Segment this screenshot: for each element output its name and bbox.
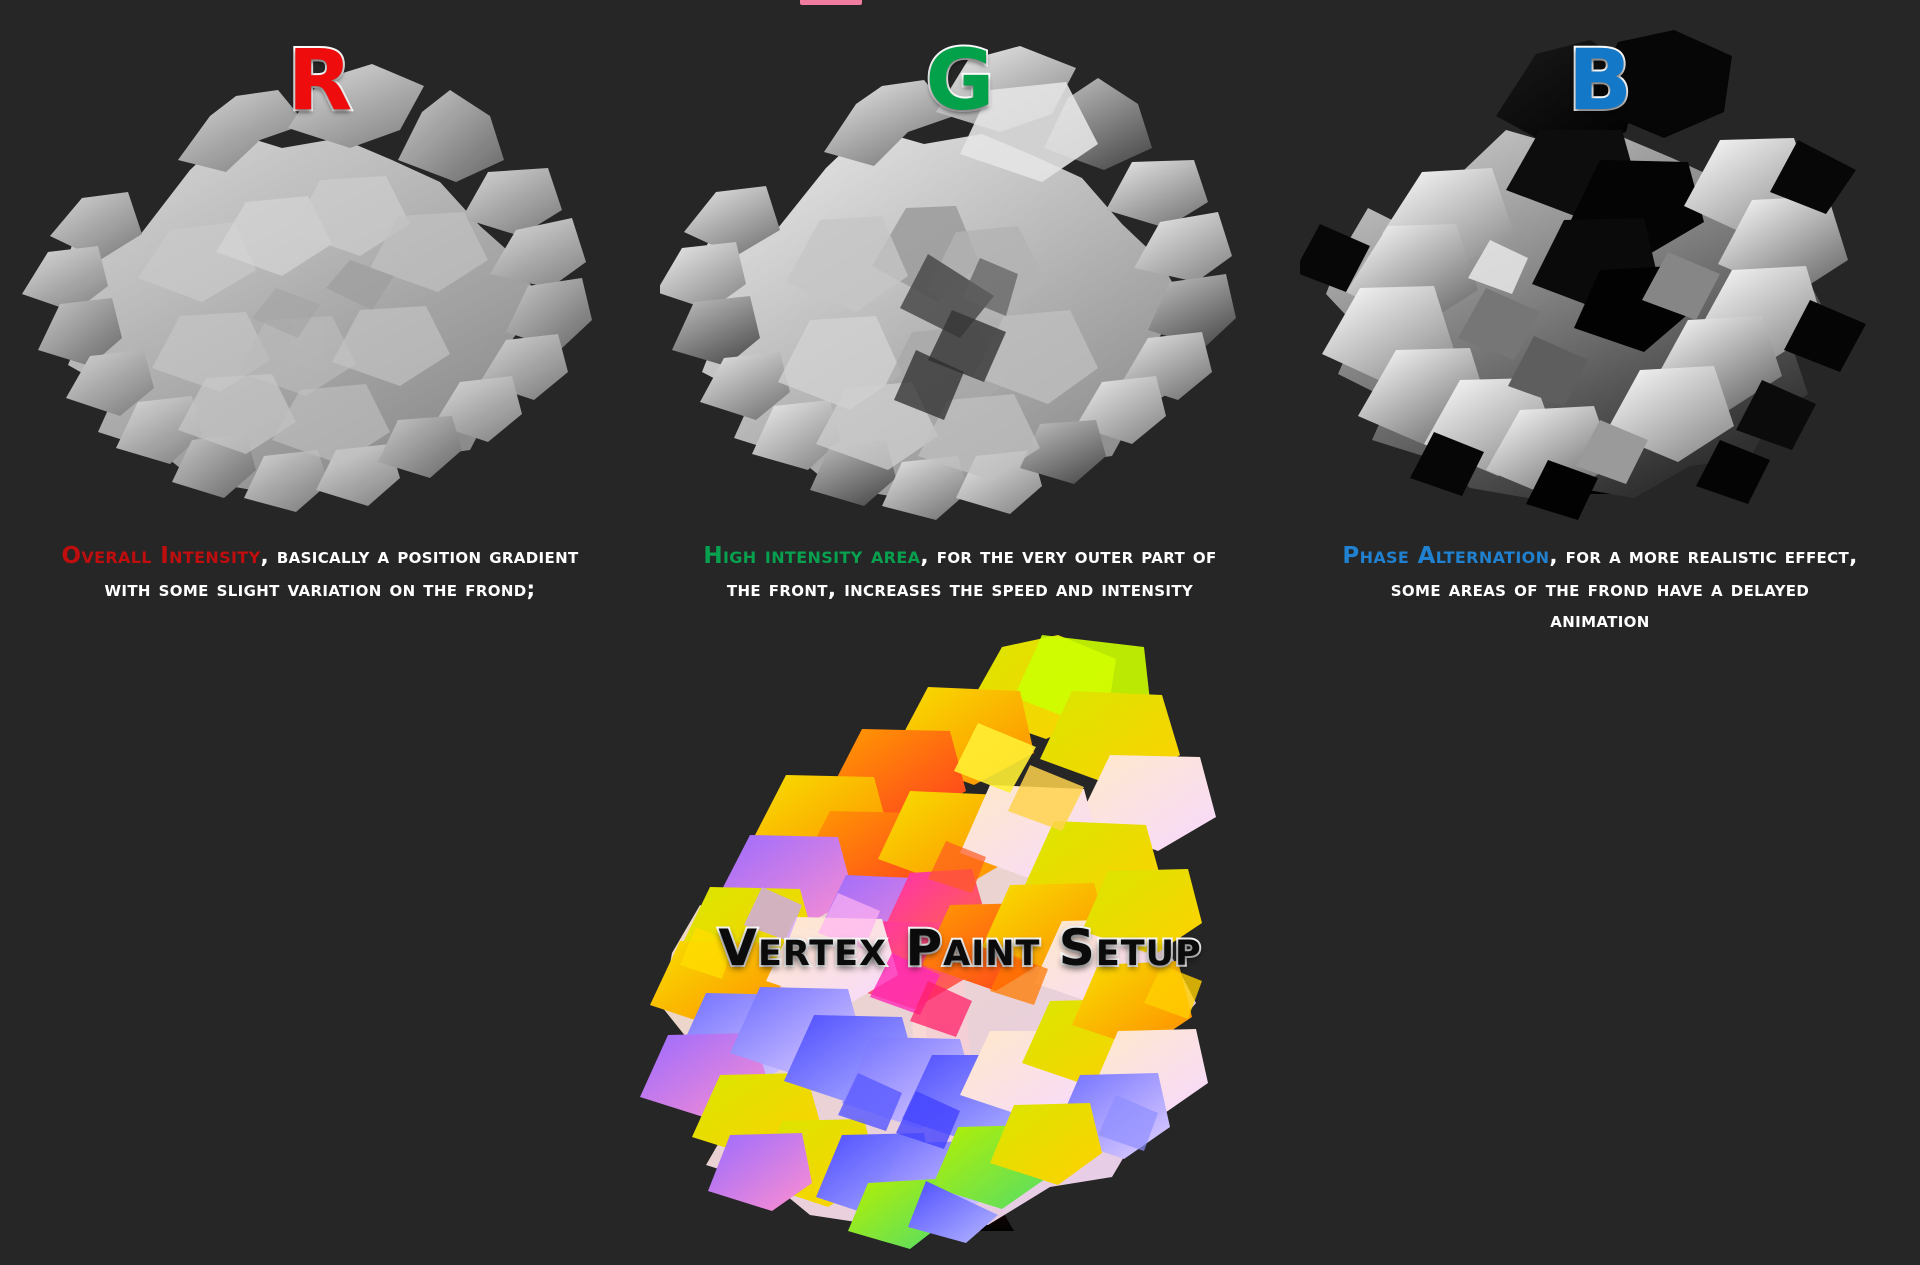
caption-r: Overall Intensity, basically a position … xyxy=(60,540,580,605)
channel-letter-b: B xyxy=(1568,38,1632,122)
hero-title: Vertex Paint Setup xyxy=(718,919,1201,977)
caption-r-highlight: Overall Intensity xyxy=(61,543,260,569)
channel-panel-b: B Phase Alternation, for a more realisti… xyxy=(1280,0,1920,660)
caption-g: High intensity area, for the very outer … xyxy=(700,540,1220,605)
caption-b-highlight: Phase Alternation xyxy=(1342,543,1549,569)
channel-row: R Overall Intensity, basically a positio… xyxy=(0,0,1920,660)
channel-letter-g: G xyxy=(926,38,995,122)
channel-panel-g: G High intensity area, for the very oute… xyxy=(640,0,1280,660)
caption-b: Phase Alternation, for a more realistic … xyxy=(1340,540,1860,637)
caption-g-highlight: High intensity area xyxy=(703,543,920,569)
channel-panel-r: R Overall Intensity, basically a positio… xyxy=(0,0,640,660)
channel-letter-r: R xyxy=(288,38,353,122)
